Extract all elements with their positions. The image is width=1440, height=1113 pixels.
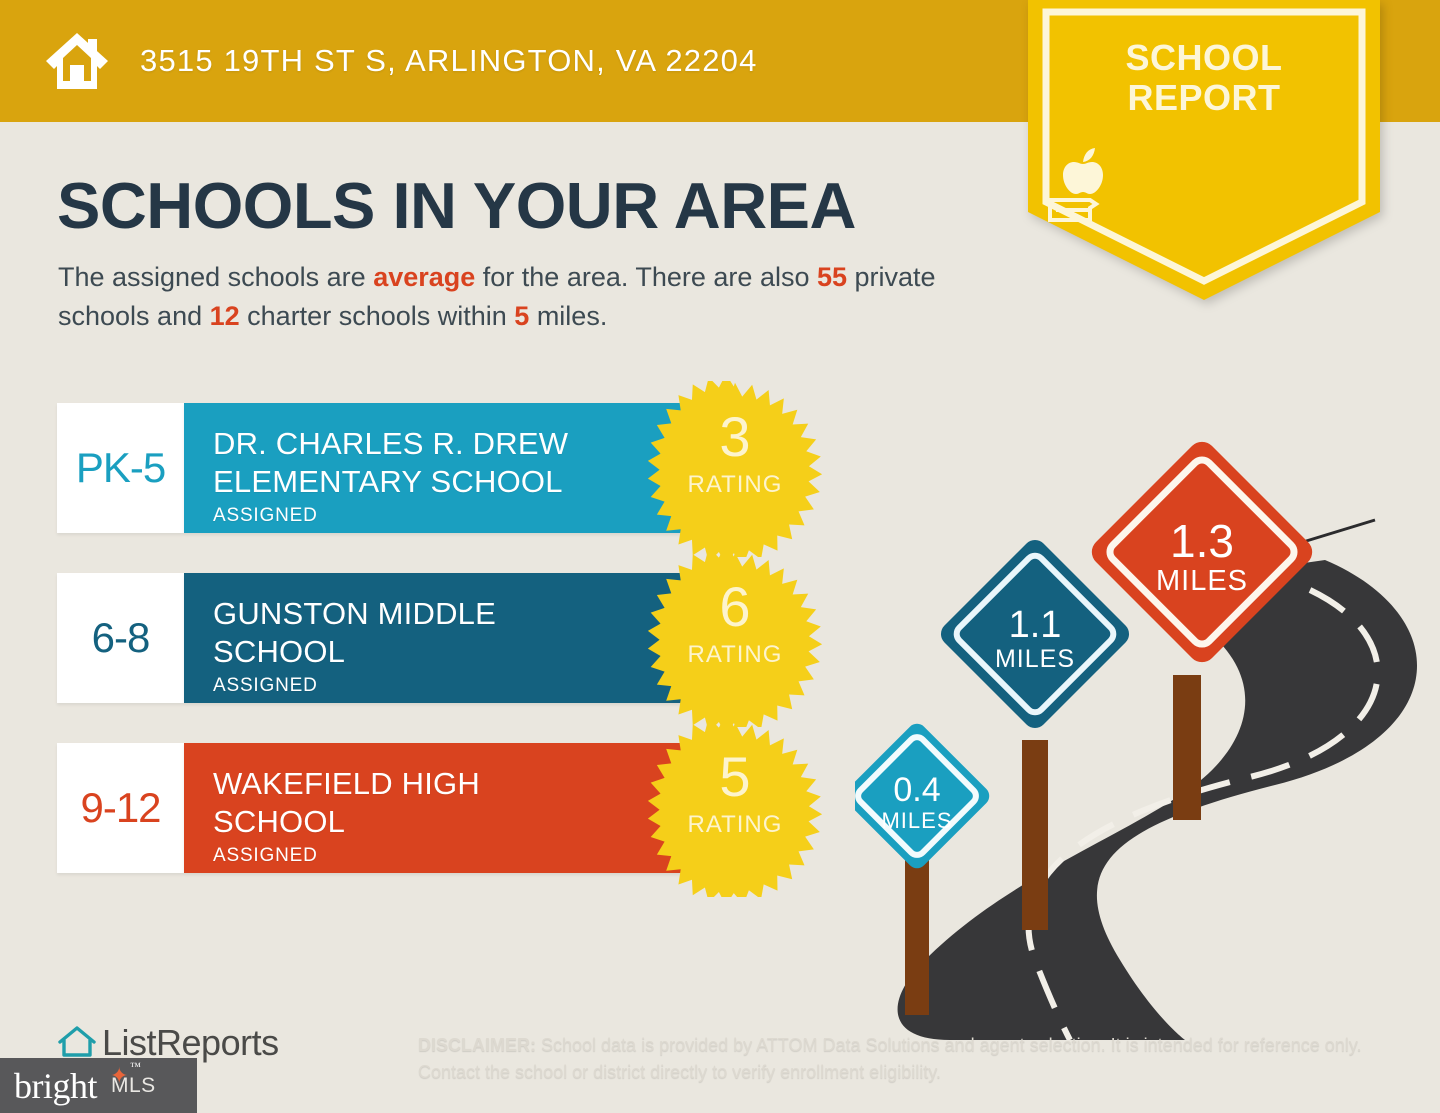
school-row[interactable]: PK-5 DR. CHARLES R. DREW ELEMENTARY SCHO… xyxy=(57,403,817,533)
school-bar-content: GUNSTON MIDDLE SCHOOL ASSIGNED xyxy=(184,573,710,697)
badge-title: SCHOOL REPORT xyxy=(1028,38,1380,118)
school-bar: GUNSTON MIDDLE SCHOOL ASSIGNED xyxy=(184,573,710,703)
rating-label: RATING xyxy=(647,811,823,839)
house-outline-icon xyxy=(57,1024,97,1063)
rating-badge: 6 RATING xyxy=(647,551,823,727)
subtitle-part-4: charter schools within xyxy=(240,301,515,331)
school-bar: DR. CHARLES R. DREW ELEMENTARY SCHOOL AS… xyxy=(184,403,710,533)
property-address: 3515 19TH ST S, ARLINGTON, VA 22204 xyxy=(140,43,758,79)
rating-badge: 5 RATING xyxy=(647,721,823,897)
grade-range-label: 9-12 xyxy=(80,784,160,832)
school-status: ASSIGNED xyxy=(213,845,710,867)
subtitle-highlight-charter-count: 12 xyxy=(210,301,240,331)
grade-range-label: 6-8 xyxy=(92,614,150,662)
grade-range-box: PK-5 xyxy=(57,403,184,533)
apple-book-svg xyxy=(1028,140,1138,230)
bright-mls-brand-text: bright xyxy=(14,1066,97,1106)
trademark-symbol: ™ xyxy=(130,1061,140,1073)
disclaimer-body: School data is provided by ATTOM Data So… xyxy=(418,1035,1361,1082)
subtitle-highlight-private-count: 55 xyxy=(817,262,847,292)
disclaimer-label: DISCLAIMER: xyxy=(418,1035,536,1055)
sign-wire xyxy=(1303,520,1375,542)
sign-post xyxy=(1173,675,1201,820)
sign-post xyxy=(1022,740,1048,930)
header-content: 3515 19TH ST S, ARLINGTON, VA 22204 xyxy=(44,0,758,122)
subtitle-highlight-radius: 5 xyxy=(514,301,529,331)
star-icon: ✦ xyxy=(110,1063,128,1089)
school-bar-content: WAKEFIELD HIGH SCHOOL ASSIGNED xyxy=(184,743,710,867)
bright-mls-watermark: bright ✦ ™ MLS xyxy=(0,1058,197,1113)
home-icon-svg xyxy=(44,31,110,91)
school-row[interactable]: 6-8 GUNSTON MIDDLE SCHOOL ASSIGNED 6 RAT… xyxy=(57,573,817,703)
school-name-line2: SCHOOL xyxy=(213,633,710,671)
school-list: PK-5 DR. CHARLES R. DREW ELEMENTARY SCHO… xyxy=(57,403,817,913)
bright-mls-brand: bright ✦ ™ xyxy=(14,1065,97,1107)
school-name-line1: GUNSTON MIDDLE xyxy=(213,595,710,633)
rating-label: RATING xyxy=(647,641,823,669)
school-name-line2: SCHOOL xyxy=(213,803,710,841)
school-name-line1: WAKEFIELD HIGH xyxy=(213,765,710,803)
house-outline-svg xyxy=(57,1024,97,1058)
school-name-line2: ELEMENTARY SCHOOL xyxy=(213,463,710,501)
distance-sign-0-4 xyxy=(855,720,993,873)
road-illustration xyxy=(855,440,1440,1040)
grade-range-box: 9-12 xyxy=(57,743,184,873)
rating-value: 3 xyxy=(647,409,823,465)
grade-range-label: PK-5 xyxy=(76,444,165,492)
school-status: ASSIGNED xyxy=(213,675,710,697)
rating-value: 5 xyxy=(647,749,823,805)
road-scene: 1.3 MILES 1.1 MILES 0.4 MILES xyxy=(855,440,1440,1040)
school-status: ASSIGNED xyxy=(213,505,710,527)
subtitle-part-1: The assigned schools are xyxy=(58,262,373,292)
infographic-canvas: 3515 19TH ST S, ARLINGTON, VA 22204 SCHO… xyxy=(0,0,1440,1113)
rating-badge: 3 RATING xyxy=(647,381,823,557)
subtitle-highlight-average: average xyxy=(373,262,475,292)
school-row[interactable]: 9-12 WAKEFIELD HIGH SCHOOL ASSIGNED 5 RA… xyxy=(57,743,817,873)
apple-and-book-icon xyxy=(1028,140,1380,230)
badge-title-line2: REPORT xyxy=(1028,78,1380,118)
subtitle-part-2: for the area. There are also xyxy=(475,262,817,292)
rating-label: RATING xyxy=(647,471,823,499)
school-report-badge: SCHOOL REPORT xyxy=(1028,0,1380,300)
disclaimer-text: DISCLAIMER: School data is provided by A… xyxy=(418,1032,1368,1086)
school-bar: WAKEFIELD HIGH SCHOOL ASSIGNED xyxy=(184,743,710,873)
subtitle-part-5: miles. xyxy=(529,301,607,331)
rating-value: 6 xyxy=(647,579,823,635)
school-bar-content: DR. CHARLES R. DREW ELEMENTARY SCHOOL AS… xyxy=(184,403,710,527)
page-subtitle: The assigned schools are average for the… xyxy=(58,258,1018,336)
grade-range-box: 6-8 xyxy=(57,573,184,703)
badge-title-line1: SCHOOL xyxy=(1028,38,1380,78)
page-title: SCHOOLS IN YOUR AREA xyxy=(57,168,856,243)
home-icon xyxy=(44,31,110,91)
school-name-line1: DR. CHARLES R. DREW xyxy=(213,425,710,463)
